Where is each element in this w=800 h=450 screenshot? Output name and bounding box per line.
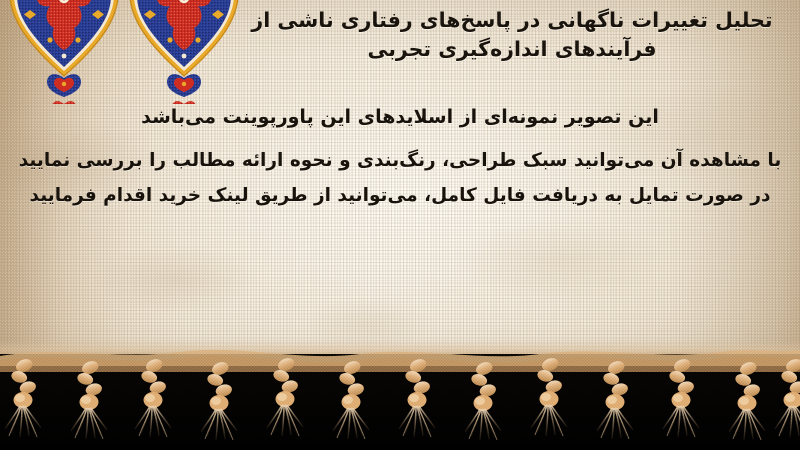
title-line-2: فرآیندهای اندازه‌گیری تجربی bbox=[232, 35, 792, 64]
knotted-tassel-fringe bbox=[0, 330, 800, 450]
slide-canvas: تحلیل تغییرات ناگهانی در پاسخ‌های رفتاری… bbox=[0, 0, 800, 450]
title-line-1: تحلیل تغییرات ناگهانی در پاسخ‌های رفتاری… bbox=[232, 6, 792, 35]
slide-title: تحلیل تغییرات ناگهانی در پاسخ‌های رفتاری… bbox=[232, 6, 792, 64]
body-line-2: با مشاهده آن می‌توانید سبک طراحی، رنگ‌بن… bbox=[0, 152, 800, 171]
slide-body: این تصویر نمونه‌ای از اسلایدهای این پاور… bbox=[0, 108, 800, 205]
body-line-3: در صورت تمایل به دریافت فایل کامل، می‌تو… bbox=[0, 187, 800, 206]
body-line-1: این تصویر نمونه‌ای از اسلایدهای این پاور… bbox=[0, 108, 800, 127]
